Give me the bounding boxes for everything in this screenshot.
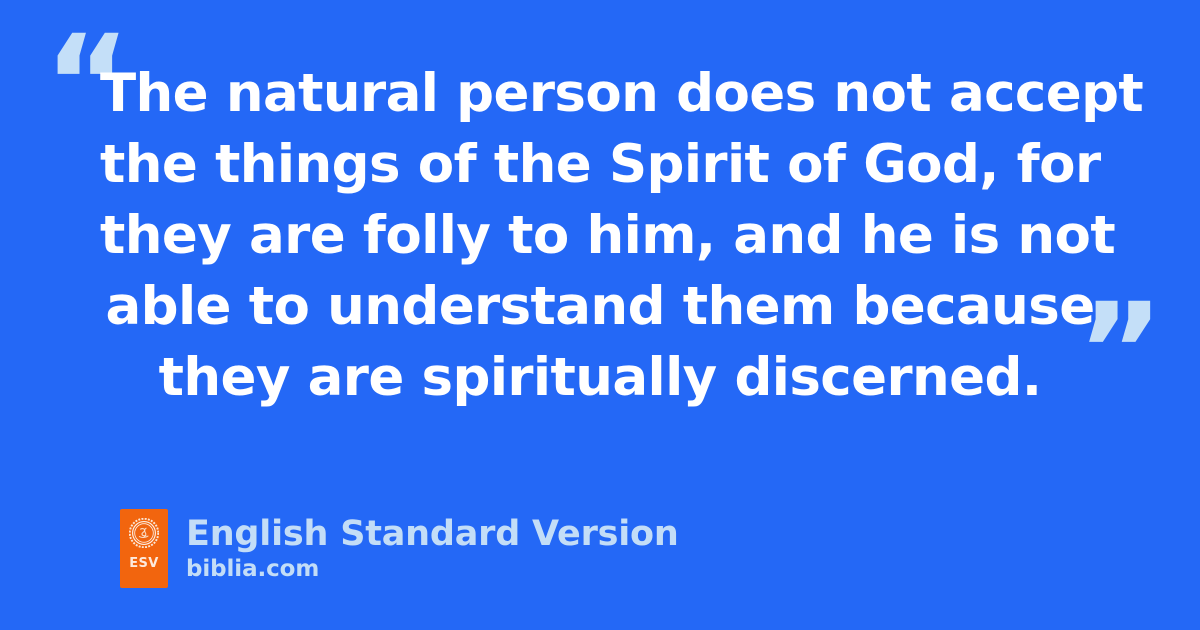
esv-logo: ESV (120, 509, 168, 588)
quote-line: they are folly to him, and he is not (100, 200, 1100, 271)
bible-verse-card: “ The natural person does not accept the… (0, 0, 1200, 630)
quote-text-block: The natural person does not accept the t… (100, 58, 1100, 413)
esv-abbr-label: ESV (129, 557, 159, 570)
attribution: ESV English Standard Version biblia.com (120, 509, 679, 588)
translation-name: English Standard Version (186, 513, 679, 555)
source-site: biblia.com (186, 555, 679, 583)
quote-line: they are spiritually discerned. (100, 342, 1100, 413)
quote-line: the things of the Spirit of God, for (100, 129, 1100, 200)
attribution-text: English Standard Version biblia.com (186, 509, 679, 583)
close-quote-icon: ” (1077, 286, 1162, 418)
quote-line: The natural person does not accept (100, 58, 1100, 129)
quote-line: able to understand them because (100, 271, 1100, 342)
esv-seal-icon (129, 518, 159, 548)
